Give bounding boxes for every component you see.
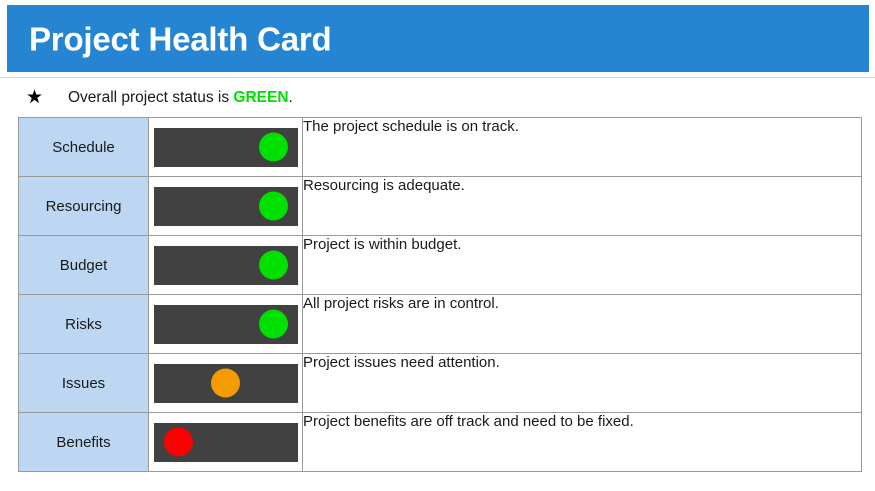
page-title: Project Health Card	[29, 22, 331, 55]
traffic-light-bar	[154, 364, 298, 403]
row-description-schedule: The project schedule is on track.	[303, 118, 862, 177]
row-status-resourcing	[149, 177, 303, 236]
status-lamp-green	[259, 133, 288, 162]
row-status-budget	[149, 236, 303, 295]
page-header: Project Health Card	[0, 0, 875, 78]
header-banner: Project Health Card	[7, 5, 869, 72]
status-lamp-green	[259, 310, 288, 339]
traffic-light-bar	[154, 423, 298, 462]
row-description-issues: Project issues need attention.	[303, 354, 862, 413]
row-description-benefits: Project benefits are off track and need …	[303, 413, 862, 472]
row-label-benefits: Benefits	[19, 413, 149, 472]
star-icon: ★	[26, 88, 48, 107]
overall-status-prefix: Overall project status is	[68, 89, 233, 106]
traffic-light-bar	[154, 128, 298, 167]
row-label-risks: Risks	[19, 295, 149, 354]
table-row: Benefits Project benefits are off track …	[19, 413, 862, 472]
overall-status-line: ★ Overall project status is GREEN.	[0, 80, 875, 115]
row-description-resourcing: Resourcing is adequate.	[303, 177, 862, 236]
status-lamp-green	[259, 192, 288, 221]
overall-status-text: Overall project status is GREEN.	[68, 89, 293, 107]
table-row: Budget Project is within budget.	[19, 236, 862, 295]
traffic-light-bar	[154, 187, 298, 226]
table-body: Schedule The project schedule is on trac…	[19, 118, 862, 472]
traffic-light-bar	[154, 305, 298, 344]
table-row: Risks All project risks are in control.	[19, 295, 862, 354]
row-status-schedule	[149, 118, 303, 177]
row-status-issues	[149, 354, 303, 413]
status-lamp-red	[164, 428, 193, 457]
overall-status-suffix: .	[289, 89, 293, 106]
table-row: Resourcing Resourcing is adequate.	[19, 177, 862, 236]
row-description-risks: All project risks are in control.	[303, 295, 862, 354]
row-status-risks	[149, 295, 303, 354]
table-row: Schedule The project schedule is on trac…	[19, 118, 862, 177]
traffic-light-bar	[154, 246, 298, 285]
row-label-schedule: Schedule	[19, 118, 149, 177]
overall-status-badge: GREEN	[233, 89, 288, 106]
row-status-benefits	[149, 413, 303, 472]
project-health-table: Schedule The project schedule is on trac…	[18, 117, 862, 472]
status-lamp-amber	[211, 369, 240, 398]
row-label-resourcing: Resourcing	[19, 177, 149, 236]
row-label-budget: Budget	[19, 236, 149, 295]
row-description-budget: Project is within budget.	[303, 236, 862, 295]
row-label-issues: Issues	[19, 354, 149, 413]
table-row: Issues Project issues need attention.	[19, 354, 862, 413]
status-lamp-green	[259, 251, 288, 280]
